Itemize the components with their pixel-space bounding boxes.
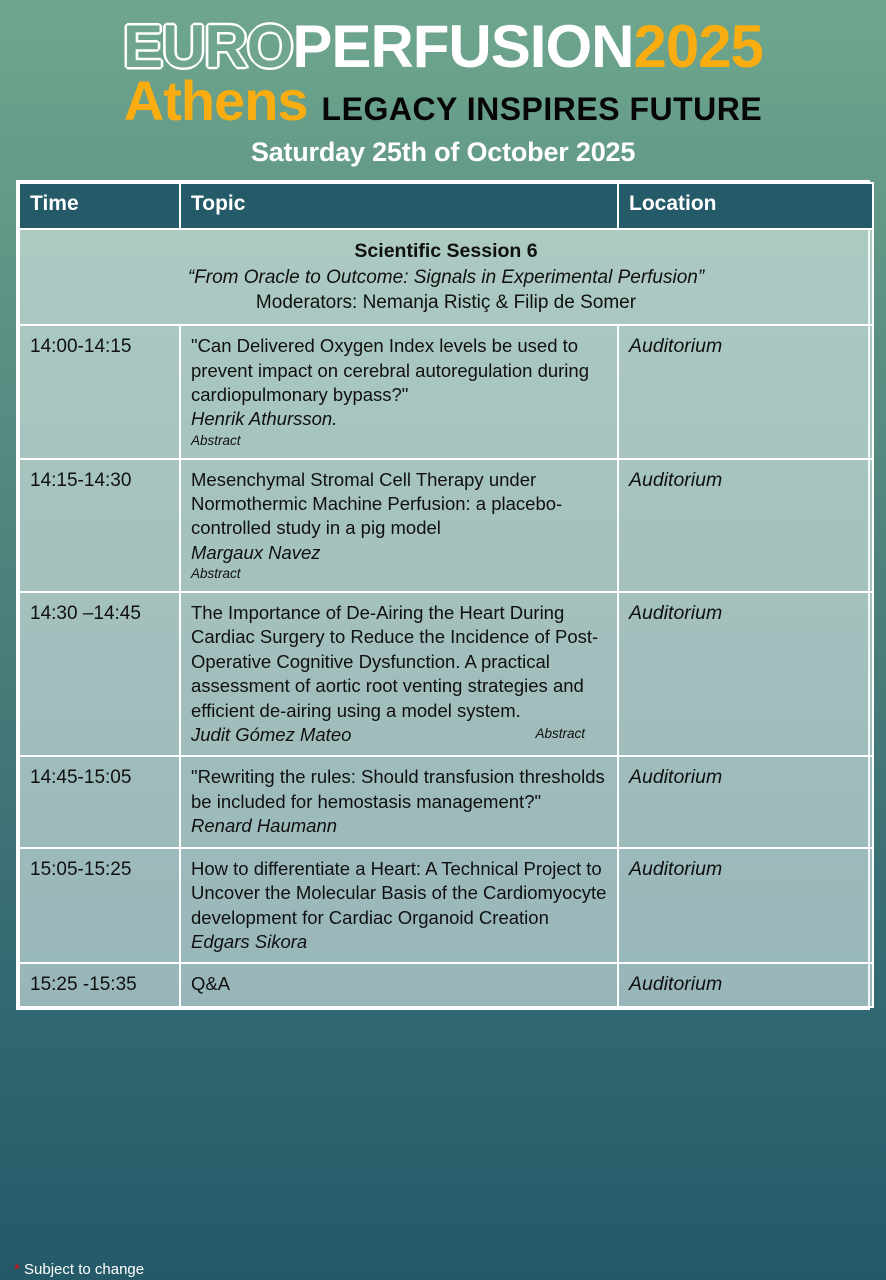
logo-year-text: 2025 [633, 13, 762, 80]
session-title: Scientific Session 6 [30, 238, 862, 265]
cell-time: 15:05-15:25 [19, 848, 180, 964]
abstract-label: Abstract [191, 432, 607, 450]
event-logo-subline: AthensLEGACY INSPIRES FUTURE [0, 73, 886, 129]
column-header-location: Location [618, 183, 873, 229]
column-header-time: Time [19, 183, 180, 229]
schedule-table-head: Time Topic Location [19, 183, 873, 229]
cell-time: 14:00-14:15 [19, 325, 180, 458]
abstract-label: Abstract [535, 725, 585, 743]
cell-time: 15:25 -15:35 [19, 963, 180, 1007]
table-row: 14:00-14:15"Can Delivered Oxygen Index l… [19, 325, 873, 458]
column-header-topic: Topic [180, 183, 618, 229]
table-header-row: Time Topic Location [19, 183, 873, 229]
cell-time: 14:15-14:30 [19, 459, 180, 592]
session-subtitle: “From Oracle to Outcome: Signals in Expe… [30, 265, 862, 291]
session-header-cell: Scientific Session 6 “From Oracle to Out… [19, 229, 873, 325]
table-row: 14:15-14:30Mesenchymal Stromal Cell Ther… [19, 459, 873, 592]
table-row: 14:45-15:05"Rewriting the rules: Should … [19, 756, 873, 847]
logo-tagline-text: LEGACY INSPIRES FUTURE [322, 91, 763, 127]
table-row: 14:30 –14:45The Importance of De-Airing … [19, 592, 873, 756]
topic-author: Edgars Sikora [191, 930, 607, 954]
session-header-row: Scientific Session 6 “From Oracle to Out… [19, 229, 873, 325]
topic-title: Mesenchymal Stromal Cell Therapy under N… [191, 468, 607, 541]
topic-author: Henrik Athursson. [191, 407, 607, 431]
asterisk-marker: * [14, 1261, 20, 1278]
table-row: 15:25 -15:35Q&AAuditorium [19, 963, 873, 1007]
event-logo: EUROPERFUSION2025 [0, 18, 886, 75]
topic-title: Q&A [191, 972, 607, 996]
topic-author: Margaux Navez [191, 541, 607, 565]
table-row: 15:05-15:25How to differentiate a Heart:… [19, 848, 873, 964]
logo-city-text: Athens [124, 69, 308, 132]
cell-location: Auditorium [618, 756, 873, 847]
session-moderators: Moderators: Nemanja Ristiç & Filip de So… [30, 290, 862, 316]
cell-location: Auditorium [618, 963, 873, 1007]
cell-topic: "Can Delivered Oxygen Index levels be us… [180, 325, 618, 458]
cell-location: Auditorium [618, 848, 873, 964]
cell-time: 14:45-15:05 [19, 756, 180, 847]
topic-title: "Rewriting the rules: Should transfusion… [191, 765, 607, 814]
cell-topic: Mesenchymal Stromal Cell Therapy under N… [180, 459, 618, 592]
cell-location: Auditorium [618, 592, 873, 756]
event-header: EUROPERFUSION2025 AthensLEGACY INSPIRES … [0, 0, 886, 168]
cell-topic: How to differentiate a Heart: A Technica… [180, 848, 618, 964]
topic-title: The Importance of De-Airing the Heart Du… [191, 601, 607, 723]
abstract-label: Abstract [191, 565, 607, 583]
schedule-table-wrapper: Time Topic Location Scientific Session 6… [16, 180, 870, 1010]
schedule-table: Time Topic Location Scientific Session 6… [18, 182, 874, 1008]
cell-topic: The Importance of De-Airing the Heart Du… [180, 592, 618, 756]
logo-perfusion-text: PERFUSION [292, 13, 633, 80]
topic-title: How to differentiate a Heart: A Technica… [191, 857, 607, 930]
footnote-text: Subject to change [24, 1261, 144, 1278]
cell-topic: "Rewriting the rules: Should transfusion… [180, 756, 618, 847]
topic-title: "Can Delivered Oxygen Index levels be us… [191, 334, 607, 407]
topic-author: Renard Haumann [191, 814, 607, 838]
event-date: Saturday 25th of October 2025 [0, 137, 886, 168]
cell-topic: Q&A [180, 963, 618, 1007]
footnote: * Subject to change [14, 1261, 144, 1278]
cell-time: 14:30 –14:45 [19, 592, 180, 756]
schedule-table-body: Scientific Session 6 “From Oracle to Out… [19, 229, 873, 1007]
cell-location: Auditorium [618, 325, 873, 458]
cell-location: Auditorium [618, 459, 873, 592]
